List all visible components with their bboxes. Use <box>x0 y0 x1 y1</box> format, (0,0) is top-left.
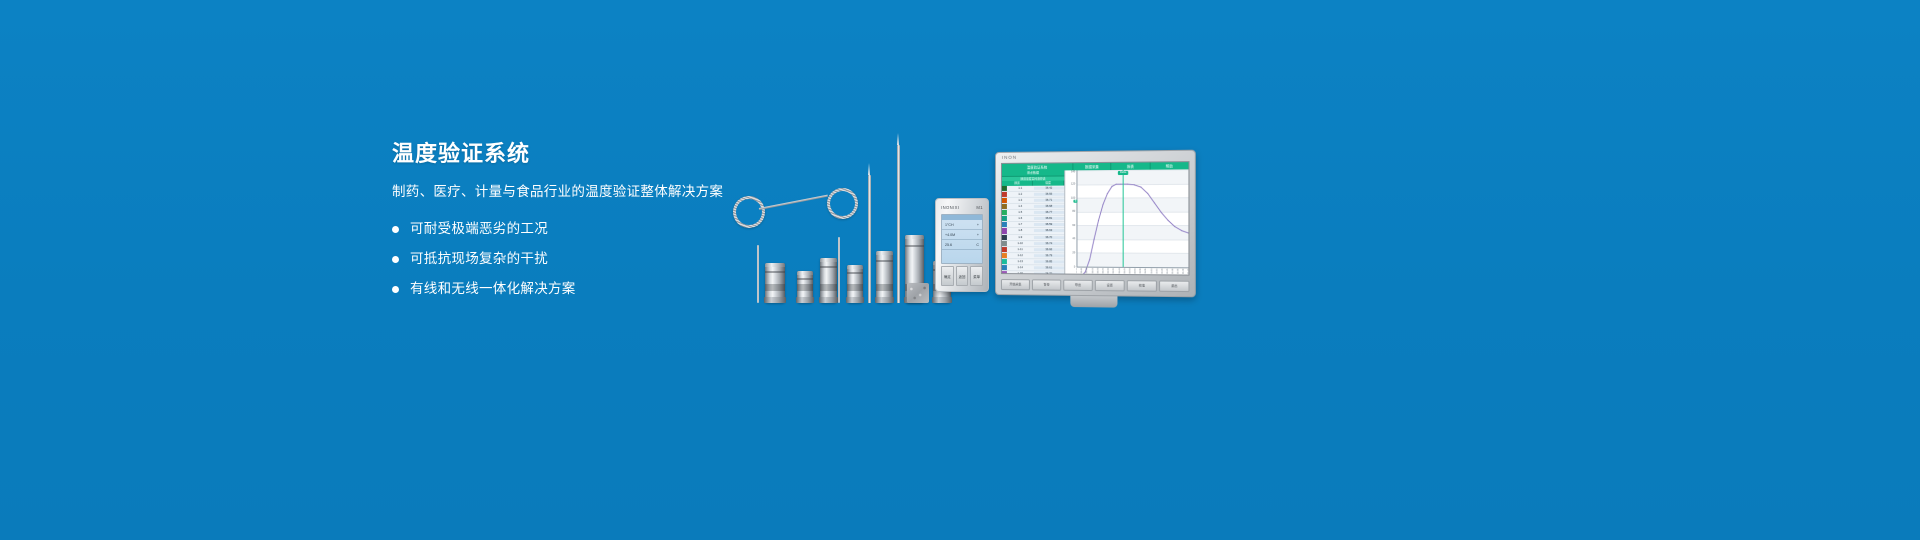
cell-value: 36.63 <box>1033 230 1064 233</box>
cell-value: 36.68 <box>1033 205 1064 208</box>
handheld-row-value: C <box>976 243 979 247</box>
handheld-row-label: 1°CH <box>945 223 954 227</box>
handheld-row-value: + <box>977 233 979 237</box>
handheld-key-menu[interactable]: 菜单 <box>970 266 983 286</box>
chart-y-tick-label: 0 <box>1065 265 1076 268</box>
feature-text: 可抵抗现场复杂的干扰 <box>410 250 548 268</box>
monitor-brand: INON <box>1002 155 1017 160</box>
monitor-screen: 温度验证系统 数据采集 报表 帮助 测点数据 通道温度实时监控表 通道 温度 1… <box>1001 161 1190 275</box>
cell-value: 36.61 <box>1033 266 1064 269</box>
cell-channel: 1-13 <box>1007 260 1034 263</box>
cell-channel: 1-5 <box>1007 211 1034 214</box>
handheld-row: 25.6 C <box>942 240 982 250</box>
cell-channel: 1-6 <box>1007 217 1034 220</box>
handheld-brandbar: INONIXI M1 <box>936 203 988 211</box>
handheld-row-label: 25.6 <box>945 243 952 247</box>
monitor-button-pause[interactable]: 暂停 <box>1032 279 1061 290</box>
cell-value: 36.81 <box>1033 217 1064 220</box>
curve-series-path <box>1076 169 1188 275</box>
cell-channel: 1-9 <box>1007 236 1034 239</box>
chart-cursor-label: Delta <box>1118 171 1128 175</box>
cell-value: 36.79 <box>1033 254 1064 257</box>
bullet-dot-icon <box>392 256 399 263</box>
chart-y-tick-label: 20 <box>1065 251 1076 254</box>
monitor-button-calibrate[interactable]: 校准 <box>1127 280 1157 292</box>
cell-channel: 1-2 <box>1007 193 1034 196</box>
handheld-reader-device: INONIXI M1 1°CH + +4.0M + 25.6 C 确定 返回 菜… <box>935 198 989 292</box>
chart-x-tick-label: 11:45 <box>1188 269 1189 274</box>
cell-value: 36.72 <box>1033 272 1064 273</box>
cell-value: 36.77 <box>1033 211 1064 214</box>
monitor-button-settings[interactable]: 设置 <box>1095 279 1125 290</box>
cell-channel: 1-3 <box>1007 199 1034 202</box>
handheld-row: +4.0M + <box>942 230 982 240</box>
chart-y-tick-label: 140 <box>1065 170 1076 173</box>
cell-value: 36.66 <box>1033 248 1064 251</box>
chart-x-tick-labels: 10:0010:0510:1010:1510:2010:2510:3010:35… <box>1076 268 1188 275</box>
cell-channel: 1-14 <box>1007 266 1034 269</box>
chart-marker-b: B <box>1073 199 1077 203</box>
foam-filter-block <box>907 283 929 303</box>
cell-value: 36.71 <box>1033 199 1064 202</box>
cell-value: 36.59 <box>1033 223 1064 226</box>
coil-probe-icon <box>827 188 858 219</box>
cell-value: 36.70 <box>1033 236 1064 239</box>
table-row[interactable]: 1-1536.72 <box>1002 271 1064 273</box>
handheld-key-back[interactable]: 返回 <box>956 266 969 286</box>
monitor-button-export[interactable]: 导出 <box>1063 279 1093 290</box>
chart-y-axis <box>1076 170 1077 266</box>
chart-y-tick-label: 40 <box>1065 238 1076 241</box>
handheld-screen: 1°CH + +4.0M + 25.6 C <box>941 214 983 264</box>
monitor-button-exit[interactable]: 退出 <box>1159 280 1189 292</box>
handheld-row-label: +4.0M <box>945 233 955 237</box>
promo-banner: 温度验证系统 制药、医疗、计量与食品行业的温度验证整体解决方案 可耐受极端恶劣的… <box>0 0 1920 540</box>
cell-channel: 1-12 <box>1007 254 1034 257</box>
data-logger <box>847 265 863 303</box>
needle-probe <box>868 175 871 303</box>
cell-value: 36.42 <box>1033 186 1064 189</box>
table-body[interactable]: 1-136.421-236.551-336.711-436.681-536.77… <box>1002 185 1064 273</box>
handheld-row-value: + <box>977 223 979 227</box>
data-logger <box>820 258 837 303</box>
handheld-brand: INONIXI <box>941 205 959 210</box>
cell-value: 36.85 <box>1033 260 1064 263</box>
cell-value: 36.74 <box>1033 242 1064 245</box>
cell-channel: 1-11 <box>1007 248 1034 251</box>
handheld-keypad[interactable]: 确定 返回 菜单 <box>941 266 983 286</box>
channel-data-table: 测点数据 通道温度实时监控表 通道 温度 1-136.421-236.551-3… <box>1002 170 1065 273</box>
validation-software-monitor: INON 温度验证系统 数据采集 报表 帮助 测点数据 通道温度实时监控表 通道… <box>995 150 1196 298</box>
coil-probe-arm <box>759 195 828 210</box>
chart-cursor-line[interactable] <box>1123 170 1124 267</box>
temperature-curve-chart: 140120100806040200 Delta B 10:0010:0510:… <box>1065 169 1188 274</box>
chart-y-tick-label: 80 <box>1065 210 1076 213</box>
feature-text: 有线和无线一体化解决方案 <box>410 280 576 298</box>
needle-probe <box>897 145 900 303</box>
cell-channel: 1-8 <box>1007 229 1034 232</box>
monitor-stand <box>1070 296 1117 308</box>
monitor-button-start[interactable]: 开始采集 <box>1001 279 1030 290</box>
coil-probe-stem <box>757 245 759 303</box>
cell-value: 36.55 <box>1033 193 1064 196</box>
cell-channel: 1-15 <box>1007 272 1034 273</box>
chart-y-tick-label: 120 <box>1065 183 1076 186</box>
handheld-key-confirm[interactable]: 确定 <box>941 266 954 286</box>
cell-channel: 1-1 <box>1007 187 1034 190</box>
feature-text: 可耐受极端恶劣的工况 <box>410 220 548 238</box>
cell-channel: 1-7 <box>1007 223 1034 226</box>
software-body: 测点数据 通道温度实时监控表 通道 温度 1-136.421-236.551-3… <box>1002 169 1188 274</box>
data-logger <box>876 251 893 303</box>
monitor-button-row[interactable]: 开始采集 暂停 导出 设置 校准 退出 <box>1001 277 1190 293</box>
bullet-dot-icon <box>392 226 399 233</box>
coil-probe-stem <box>838 237 840 303</box>
bullet-dot-icon <box>392 286 399 293</box>
cell-channel: 1-10 <box>1007 242 1034 245</box>
coil-probe-icon <box>733 196 765 228</box>
cell-channel: 1-4 <box>1007 205 1034 208</box>
chart-y-tick-label: 60 <box>1065 224 1076 227</box>
data-logger <box>765 263 785 303</box>
data-logger <box>797 271 813 303</box>
handheld-row: 1°CH + <box>942 220 982 230</box>
handheld-model: M1 <box>976 205 983 210</box>
